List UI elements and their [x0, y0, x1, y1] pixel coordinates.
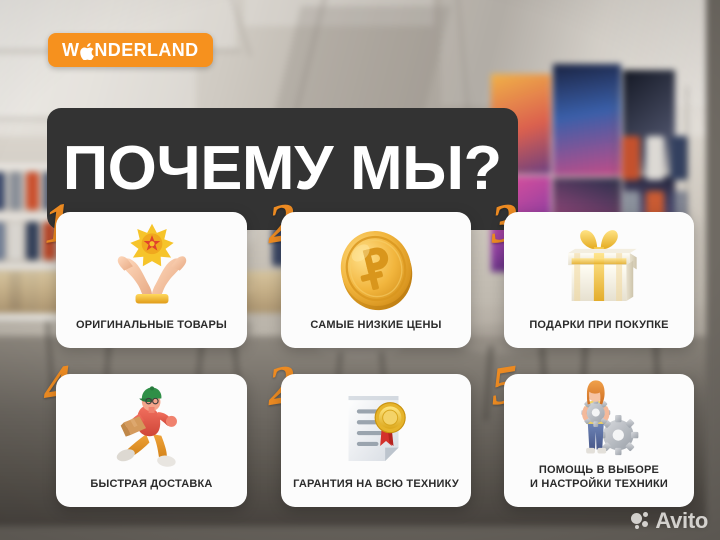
feature-card-6-caption-line1: ПОМОЩЬ В ВЫБОРЕ	[512, 463, 686, 478]
feature-card-4[interactable]: БЫСТРАЯ ДОСТАВКА	[56, 374, 247, 507]
avito-watermark: Avito	[631, 510, 708, 532]
feature-card-5[interactable]: ГАРАНТИЯ НА ВСЮ ТЕХНИКУ	[281, 374, 471, 507]
feature-card-3-caption: ПОДАРКИ ПРИ ПОКУПКЕ	[504, 318, 694, 348]
woman-with-gears-icon	[504, 374, 694, 463]
feature-card-6-caption: ПОМОЩЬ В ВЫБОРЕ И НАСТРОЙКИ ТЕХНИКИ	[504, 463, 694, 507]
certificate-with-rosette-icon	[281, 374, 471, 477]
feature-card-3[interactable]: ПОДАРКИ ПРИ ПОКУПКЕ	[504, 212, 694, 348]
running-courier-icon	[56, 374, 247, 477]
feature-card-4-caption: БЫСТРАЯ ДОСТАВКА	[56, 477, 247, 507]
avito-watermark-text: Avito	[655, 510, 708, 532]
feature-card-2-caption: САМЫЕ НИЗКИЕ ЦЕНЫ	[281, 318, 471, 348]
feature-card-1[interactable]: ОРИГИНАЛЬНЫЕ ТОВАРЫ	[56, 212, 247, 348]
brand-logo-badge[interactable]: WNDERLAND	[48, 33, 213, 67]
page-title: ПОЧЕМУ МЫ?	[63, 138, 502, 200]
gold-ruble-coin-icon	[281, 212, 471, 318]
feature-card-1-caption: ОРИГИНАЛЬНЫЕ ТОВАРЫ	[56, 318, 247, 348]
brand-name-after: NDERLAND	[94, 41, 198, 59]
feature-card-6[interactable]: ПОМОЩЬ В ВЫБОРЕ И НАСТРОЙКИ ТЕХНИКИ	[504, 374, 694, 507]
apple-logo-icon	[80, 43, 94, 60]
feature-card-6-caption-line2: И НАСТРОЙКИ ТЕХНИКИ	[512, 477, 686, 492]
poster-canvas: WNDERLAND ПОЧЕМУ МЫ? 1 2 3	[0, 0, 720, 540]
feature-card-5-caption: ГАРАНТИЯ НА ВСЮ ТЕХНИКУ	[281, 477, 471, 507]
brand-logo-text: WNDERLAND	[62, 41, 199, 59]
hands-with-sparkle-icon	[56, 212, 247, 318]
avito-dots-icon	[631, 512, 650, 531]
feature-card-2[interactable]: САМЫЕ НИЗКИЕ ЦЕНЫ	[281, 212, 471, 348]
gift-box-icon	[504, 212, 694, 318]
brand-name-before: W	[62, 41, 79, 59]
